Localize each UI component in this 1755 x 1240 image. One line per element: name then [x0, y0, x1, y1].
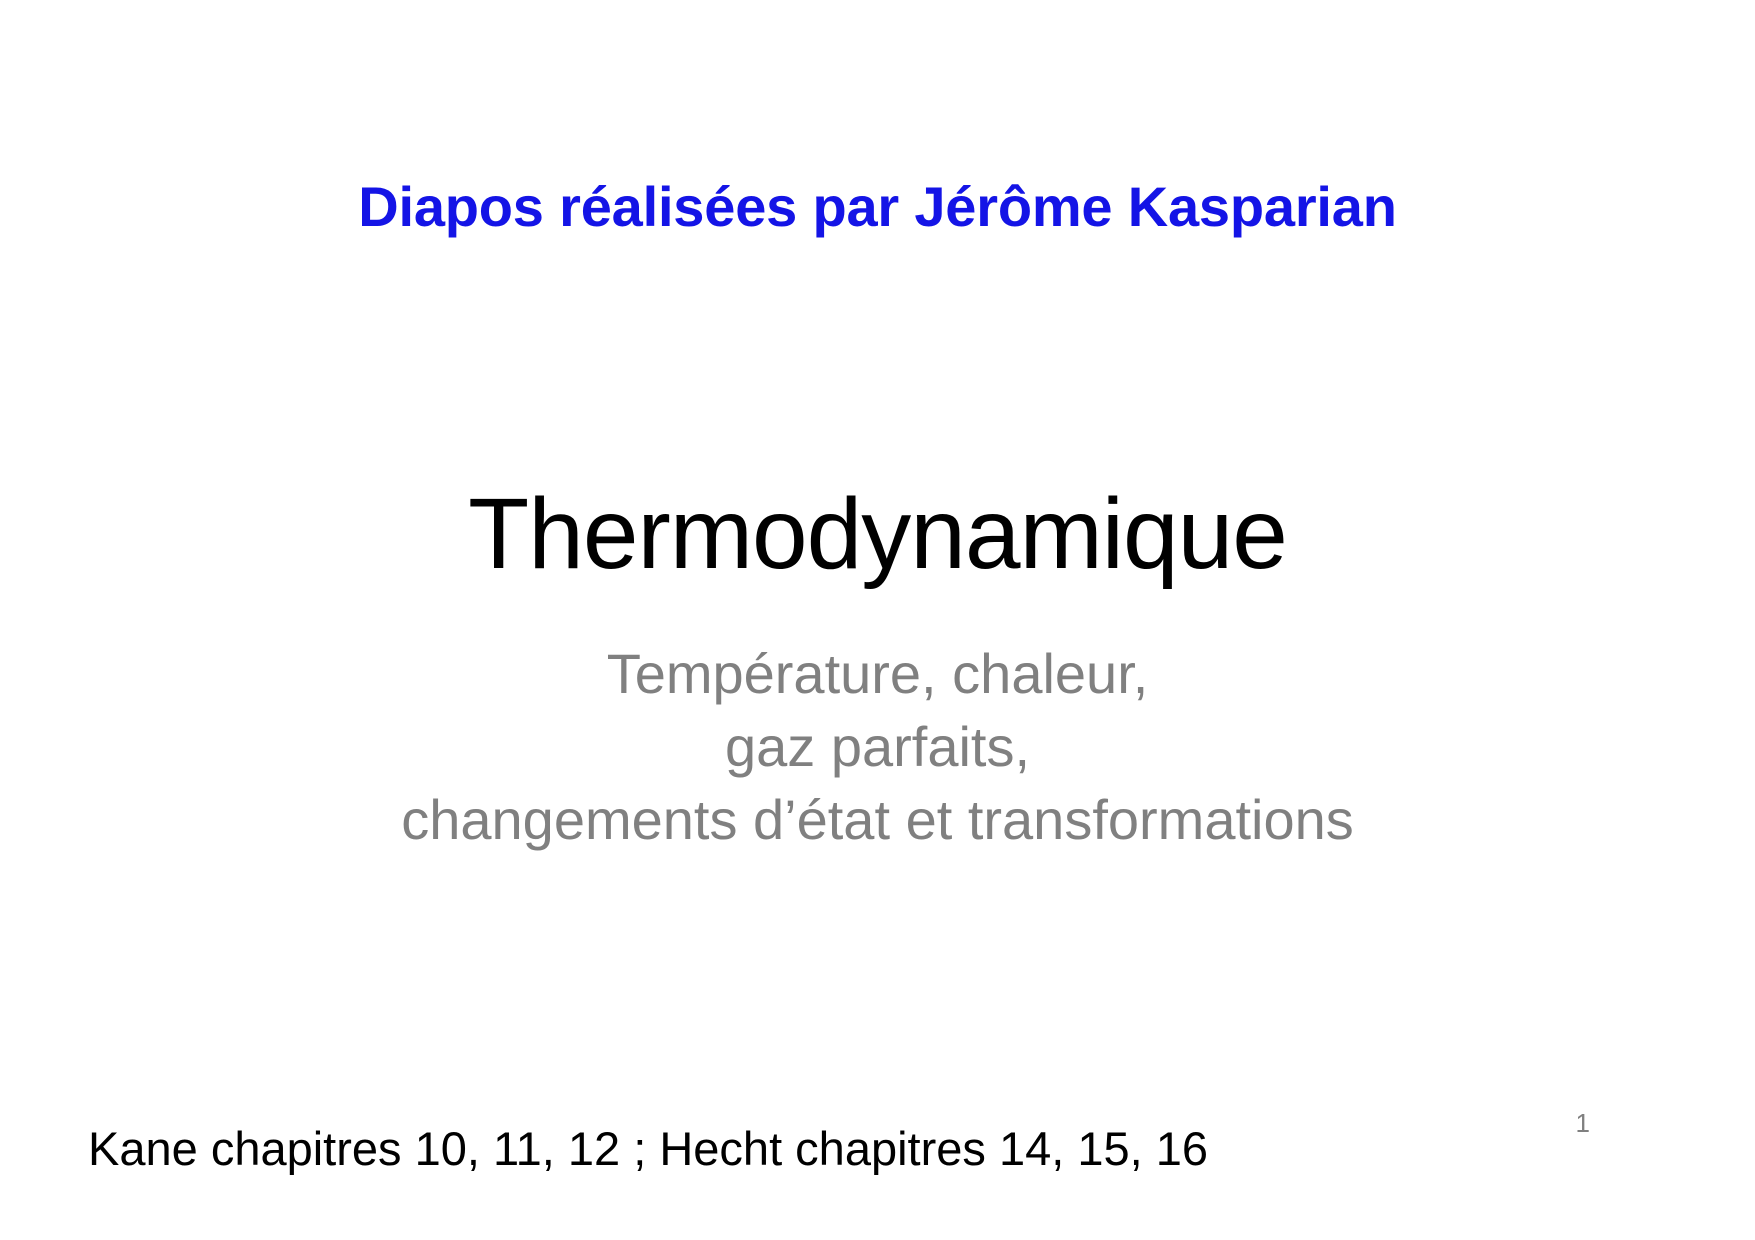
subtitle-line-3: changements d’état et transformations: [0, 784, 1755, 857]
author-credit-line: Diapos réalisées par Jérôme Kasparian: [0, 178, 1755, 237]
presentation-slide: Diapos réalisées par Jérôme Kasparian Th…: [0, 0, 1755, 1240]
subtitle-block: Température, chaleur, gaz parfaits, chan…: [0, 638, 1755, 856]
footer-reference-text: Kane chapitres 10, 11, 12 ; Hecht chapit…: [88, 1123, 1208, 1175]
subtitle-line-1: Température, chaleur,: [0, 638, 1755, 711]
page-number: 1: [1576, 1110, 1590, 1136]
subtitle-line-2: gaz parfaits,: [0, 711, 1755, 784]
page-title: Thermodynamique: [0, 482, 1755, 587]
